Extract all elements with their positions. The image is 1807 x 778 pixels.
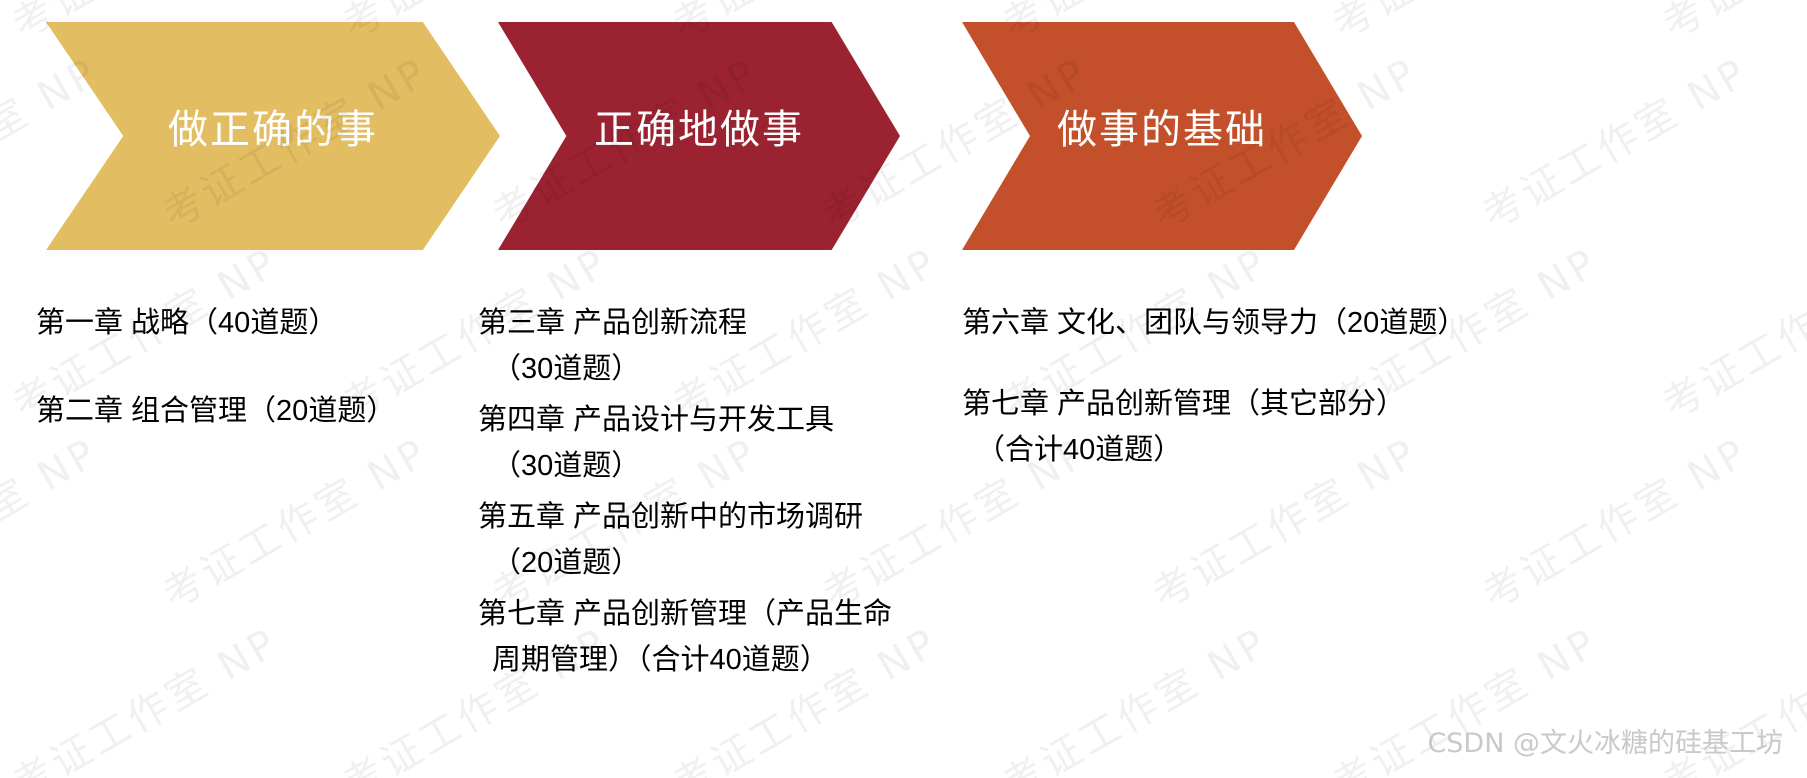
chapter-entry: 第四章 产品设计与开发工具 （30道题） [478, 397, 958, 489]
chapter-entry-line2: （30道题） [478, 443, 958, 489]
chapter-entry-line1: 第七章 产品创新管理（其它部分） [962, 388, 1405, 420]
chapter-entry-line1: 第七章 产品创新管理（产品生命 [478, 598, 892, 630]
watermark-text: 考证工作室 NP [990, 611, 1278, 778]
chevron-title: 做正确的事 [168, 97, 378, 155]
chevron-do-things-right[interactable]: 正确地做事 [498, 22, 900, 250]
chapter-entry: 第一章 战略（40道题） [36, 300, 466, 346]
chapter-column-strategy: 第一章 战略（40道题） 第二章 组合管理（20道题） [36, 300, 466, 476]
chapter-entry-line1: 第六章 文化、团队与领导力（20道题） [962, 307, 1466, 339]
chevron-do-right-things[interactable]: 做正确的事 [46, 22, 500, 250]
chapter-entry: 第二章 组合管理（20道题） [36, 388, 466, 434]
chevron-foundation[interactable]: 做事的基础 [962, 22, 1362, 250]
chapter-entry-line1: 第三章 产品创新流程 [478, 307, 747, 339]
chevron-title: 做事的基础 [1057, 97, 1267, 155]
chapter-entry: 第五章 产品创新中的市场调研 （20道题） [478, 494, 958, 586]
watermark-text: 考证工作室 NP [1800, 421, 1807, 621]
watermark-text: 考证工作室 NP [0, 611, 288, 778]
chapter-entry-line2: 周期管理）（合计40道题） [478, 637, 958, 683]
chapter-entry: 第三章 产品创新流程 （30道题） [478, 300, 958, 392]
chapter-column-process: 第三章 产品创新流程 （30道题） 第四章 产品设计与开发工具 （30道题） 第… [478, 300, 958, 688]
chapter-column-culture: 第六章 文化、团队与领导力（20道题） 第七章 产品创新管理（其它部分） （合计… [962, 300, 1582, 508]
chapter-entry: 第七章 产品创新管理（产品生命 周期管理）（合计40道题） [478, 591, 958, 683]
chapter-entry-line2: （30道题） [478, 346, 958, 392]
chapter-entry-line2: （20道题） [478, 540, 958, 586]
chapter-entry: 第七章 产品创新管理（其它部分） （合计40道题） [962, 381, 1582, 473]
chapter-entry-line1: 第一章 战略（40道题） [36, 307, 337, 339]
chapter-entry: 第六章 文化、团队与领导力（20道题） [962, 300, 1582, 346]
csdn-credit: CSDN @文火冰糖的硅基工坊 [1427, 721, 1783, 760]
chevron-row: 做正确的事 正确地做事 做事的基础 [0, 0, 1807, 290]
chapter-entry-line1: 第五章 产品创新中的市场调研 [478, 501, 863, 533]
chapter-entry-line2: （合计40道题） [962, 427, 1582, 473]
chapter-entry-line1: 第二章 组合管理（20道题） [36, 395, 395, 427]
chevron-title: 正确地做事 [594, 97, 804, 155]
chapter-entry-line1: 第四章 产品设计与开发工具 [478, 404, 834, 436]
